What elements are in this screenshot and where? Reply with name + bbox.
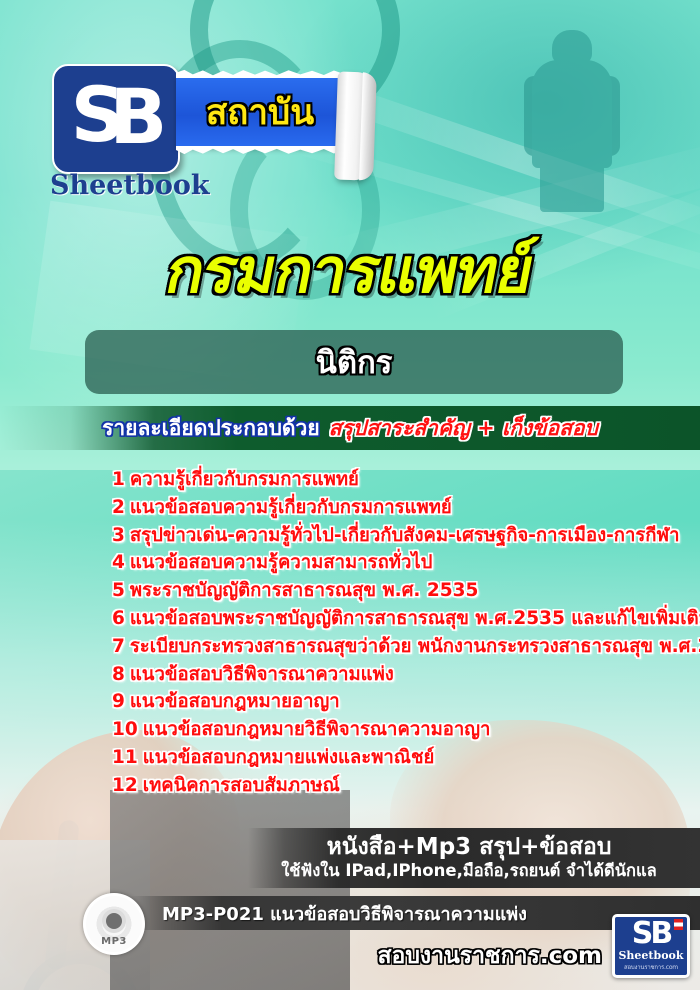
list-item-label: แนวข้อสอบกฎหมายแพ่งและพาณิชย์ xyxy=(143,747,435,768)
list-item-label: แนวข้อสอบความรู้ความสามารถทั่วไป xyxy=(130,552,433,573)
subtitle-prefix: รายละเอียดประกอบด้วย xyxy=(102,412,320,445)
list-item: 5พระราชบัญญัติการสาธารณสุข พ.ศ. 2535 xyxy=(112,577,692,605)
list-item: 6แนวข้อสอบพระราชบัญญัติการสาธารณสุข พ.ศ.… xyxy=(112,605,692,633)
list-item-number: 12 xyxy=(112,775,138,796)
mp3-track-label: MP3-P021 แนวข้อสอบวิธีพิจารณาความแพ่ง xyxy=(162,899,527,928)
footer-site-url: สอบงานราชการ.com xyxy=(377,938,602,974)
flag-icon xyxy=(674,919,683,930)
subtitle-highlight: สรุปสาระสำคัญ + เก็งข้อสอบ xyxy=(329,412,598,445)
book-cover-poster: SB สถาบัน Sheetbook กรมการแพทย์ นิติกร ร… xyxy=(0,0,700,990)
list-item-label: ระเบียบกระทรวงสาธารณสุขว่าด้วย พนักงานกร… xyxy=(130,636,700,657)
disc-hole xyxy=(106,913,122,929)
promo-line-2: ใช้ฟังใน IPad,IPhone,มือถือ,รถยนต์ จำได้… xyxy=(281,861,657,882)
footer-site-row: สอบงานราชการ.com xyxy=(0,938,700,974)
list-item-number: 7 xyxy=(112,636,125,657)
page-title: กรมการแพทย์ xyxy=(0,222,700,320)
corner-logo-letters: SB xyxy=(632,920,670,949)
promo-line-1: หนังสือ+Mp3 สรุป+ข้อสอบ xyxy=(327,835,612,859)
list-item: 3สรุปข่าวเด่น-ความรู้ทั่วไป-เกี่ยวกับสัง… xyxy=(112,522,692,550)
list-item-number: 9 xyxy=(112,691,125,712)
corner-logo-name: Sheetbook xyxy=(618,949,683,962)
paper-curl-icon xyxy=(334,71,372,180)
list-item-number: 2 xyxy=(112,497,125,518)
list-item-number: 10 xyxy=(112,719,138,740)
brand-name: Sheetbook xyxy=(50,170,210,201)
list-item-label: แนวข้อสอบกฎหมายวิธีพิจารณาความอาญา xyxy=(143,719,491,740)
list-item-number: 6 xyxy=(112,608,125,629)
contents-list: 1ความรู้เกี่ยวกับกรมการแพทย์ 2แนวข้อสอบค… xyxy=(112,466,692,800)
list-item: 9แนวข้อสอบกฎหมายอาญา xyxy=(112,688,692,716)
list-item: 11แนวข้อสอบกฎหมายแพ่งและพาณิชย์ xyxy=(112,744,692,772)
surgeon-silhouette xyxy=(524,30,620,210)
list-item: 8แนวข้อสอบวิธีพิจารณาความแพ่ง xyxy=(112,661,692,689)
list-item: 2แนวข้อสอบความรู้เกี่ยวกับกรมการแพทย์ xyxy=(112,494,692,522)
position-band: นิติกร xyxy=(85,330,623,394)
list-item-number: 11 xyxy=(112,747,138,768)
list-item-number: 1 xyxy=(112,469,125,490)
sb-logo-letters: SB xyxy=(54,66,178,172)
list-item-label: พระราชบัญญัติการสาธารณสุข พ.ศ. 2535 xyxy=(130,580,479,601)
list-item: 1ความรู้เกี่ยวกับกรมการแพทย์ xyxy=(112,466,692,494)
torn-paper-ribbon: สถาบัน xyxy=(176,76,344,148)
list-item: 12เทคนิคการสอบสัมภาษณ์ xyxy=(112,772,692,800)
list-item-number: 3 xyxy=(112,525,125,546)
sb-logo-letter-s: S xyxy=(71,77,120,153)
list-item: 4แนวข้อสอบความรู้ความสามารถทั่วไป xyxy=(112,549,692,577)
corner-brand-logo: SB Sheetbook สอบงานราชการ.com xyxy=(612,914,690,978)
list-item-label: แนวข้อสอบวิธีพิจารณาความแพ่ง xyxy=(130,664,394,685)
list-item-label: แนวข้อสอบพระราชบัญญัติการสาธารณสุข พ.ศ.2… xyxy=(130,608,700,629)
list-item: 10แนวข้อสอบกฎหมายวิธีพิจารณาความอาญา xyxy=(112,716,692,744)
list-item: 7ระเบียบกระทรวงสาธารณสุขว่าด้วย พนักงานก… xyxy=(112,633,692,661)
list-item-number: 8 xyxy=(112,664,125,685)
corner-logo-url: สอบงานราชการ.com xyxy=(624,962,678,972)
list-item-number: 4 xyxy=(112,552,125,573)
list-item-label: แนวข้อสอบกฎหมายอาญา xyxy=(130,691,340,712)
subtitle-bar: รายละเอียดประกอบด้วย สรุปสาระสำคัญ + เก็… xyxy=(0,406,700,450)
list-item-label: ความรู้เกี่ยวกับกรมการแพทย์ xyxy=(130,469,359,490)
ribbon-label: สถาบัน xyxy=(176,76,344,148)
promo-banner: หนังสือ+Mp3 สรุป+ข้อสอบ ใช้ฟังใน IPad,IP… xyxy=(248,828,700,888)
list-item-label: แนวข้อสอบความรู้เกี่ยวกับกรมการแพทย์ xyxy=(130,497,452,518)
position-title: นิติกร xyxy=(316,337,393,387)
list-item-number: 5 xyxy=(112,580,125,601)
list-item-label: เทคนิคการสอบสัมภาษณ์ xyxy=(143,775,340,796)
list-item-label: สรุปข่าวเด่น-ความรู้ทั่วไป-เกี่ยวกับสังค… xyxy=(130,525,680,546)
brand-logo: SB สถาบัน Sheetbook xyxy=(46,58,366,208)
sb-logo-badge: SB xyxy=(52,64,180,174)
